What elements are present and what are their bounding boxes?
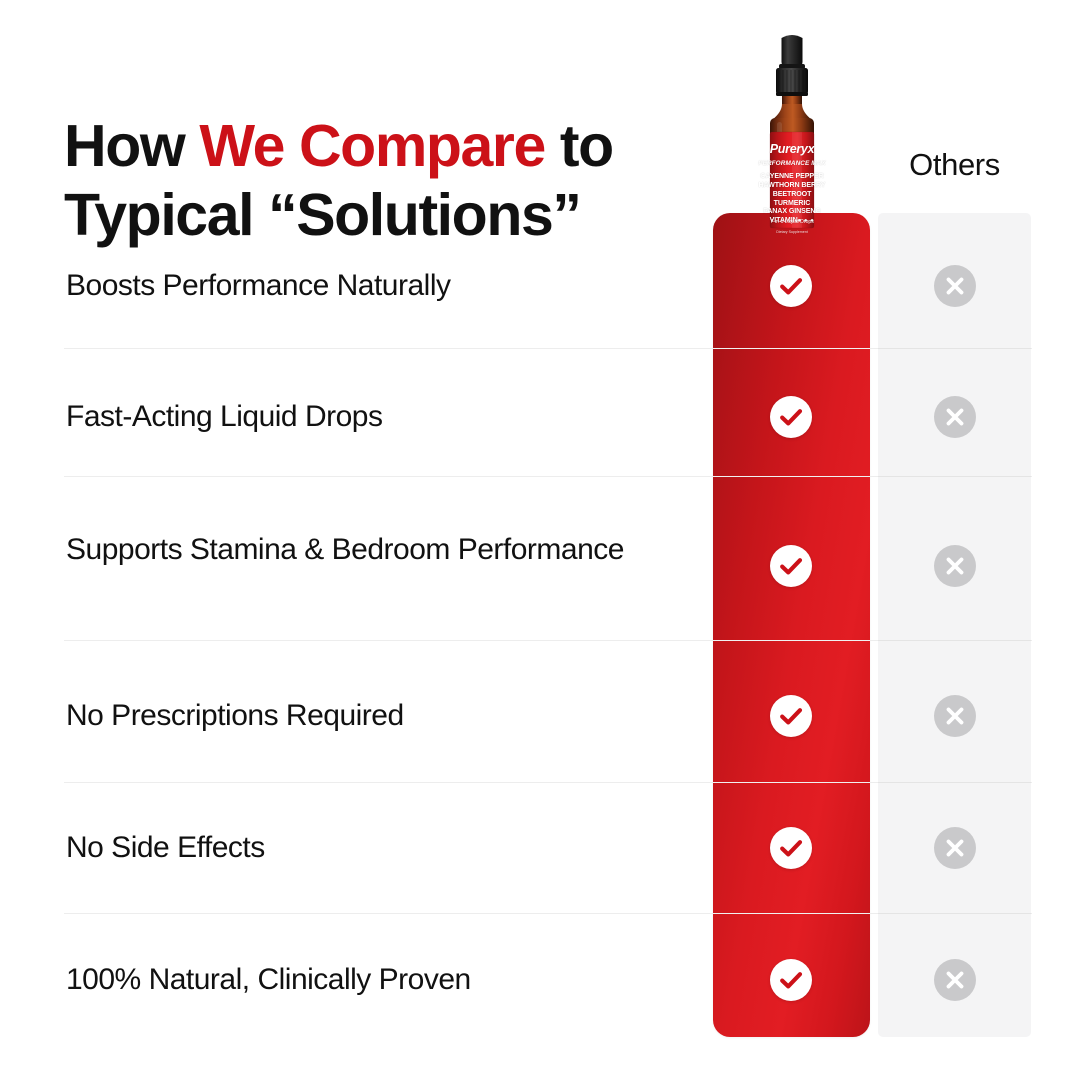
feature-label: No Prescriptions Required <box>66 698 666 734</box>
page-title: How We Compare to Typical “Solutions” <box>64 112 744 250</box>
divider-segment-ours <box>713 640 870 641</box>
product-bottle-image: Pureryx PERFORMANCE MAX CAYENNE PEPPERHA… <box>752 32 832 232</box>
check-icon <box>770 827 812 869</box>
feature-label: Fast-Acting Liquid Drops <box>66 399 666 435</box>
divider-segment-ours <box>713 913 870 914</box>
feature-label: Boosts Performance Naturally <box>66 268 666 304</box>
divider-segment-others <box>878 913 1031 914</box>
feature-label: Supports Stamina & Bedroom Performance <box>66 532 666 568</box>
divider-segment-others <box>878 782 1031 783</box>
cross-icon <box>934 265 976 307</box>
check-icon <box>770 959 812 1001</box>
row-divider <box>64 640 1032 641</box>
check-icon <box>770 265 812 307</box>
divider-segment-others <box>878 640 1031 641</box>
divider-segment-others <box>878 476 1031 477</box>
feature-label: 100% Natural, Clinically Proven <box>66 962 666 998</box>
column-header-others: Others <box>878 147 1031 183</box>
cross-icon <box>934 396 976 438</box>
feature-label: No Side Effects <box>66 830 666 866</box>
check-icon <box>770 545 812 587</box>
row-divider <box>64 348 1032 349</box>
headline-part-2: to <box>545 113 613 179</box>
row-divider <box>64 913 1032 914</box>
headline-line-2: Typical “Solutions” <box>64 182 580 248</box>
headline-part-1: How <box>64 113 199 179</box>
comparison-chart-graphic: How We Compare to Typical “Solutions” Ot… <box>0 0 1080 1080</box>
row-divider <box>64 782 1032 783</box>
check-icon <box>770 396 812 438</box>
divider-segment-ours <box>713 476 870 477</box>
cross-icon <box>934 545 976 587</box>
divider-segment-ours <box>713 782 870 783</box>
cross-icon <box>934 959 976 1001</box>
headline-accent: We Compare <box>199 113 545 179</box>
check-icon <box>770 695 812 737</box>
row-divider <box>64 476 1032 477</box>
divider-segment-ours <box>713 348 870 349</box>
divider-segment-others <box>878 348 1031 349</box>
cross-icon <box>934 827 976 869</box>
cross-icon <box>934 695 976 737</box>
